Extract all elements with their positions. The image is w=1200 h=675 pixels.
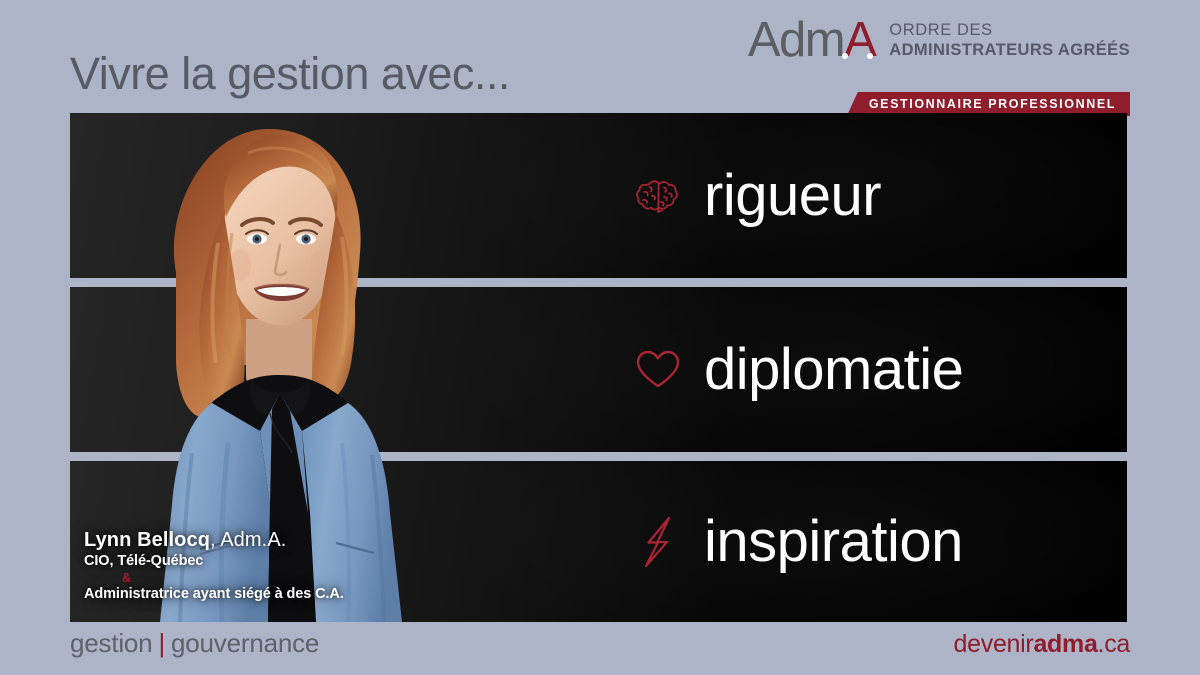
adma-wordmark: AdmA [748,14,875,66]
website-url[interactable]: deveniradma.ca [954,630,1130,659]
value-band-rigueur: rigueur [70,113,1127,278]
band-word-inspiration: inspiration [704,508,963,575]
speaker-extra-role: Administratrice ayant siégé à des C.A. [84,585,344,604]
footer-tagline-second: gouvernance [171,628,319,658]
footer-separator: | [158,628,165,658]
logo-mark-adm: Adm [748,13,844,67]
adma-logo: AdmA ORDRE DES ADMINISTRATEURS AGRÉÉS GE… [750,16,1130,100]
url-tld: .ca [1098,630,1130,658]
lightning-icon [630,514,686,570]
band-row: rigueur [70,113,1127,278]
ampersand-separator: & [122,571,344,585]
heart-icon [630,342,686,398]
speaker-name: Lynn Bellocq [84,529,210,551]
speaker-role: CIO, Télé-Québec [84,552,344,571]
band-row: diplomatie [70,287,1127,452]
url-prefix: devenir [954,630,1034,658]
page-title: Vivre la gestion avec... [70,48,510,100]
value-band-diplomatie: diplomatie [70,287,1127,452]
logo-subtitle-line1: ORDRE DES [889,20,1130,40]
logo-top-row: AdmA ORDRE DES ADMINISTRATEURS AGRÉÉS [750,16,1130,72]
band-word-rigueur: rigueur [704,162,881,229]
band-word-diplomatie: diplomatie [704,336,963,403]
brain-icon [630,168,686,224]
slide-canvas: Vivre la gestion avec... AdmA ORDRE DES … [0,0,1200,675]
speaker-name-line: Lynn Bellocq, Adm.A. [84,528,344,552]
footer-tagline: gestion|gouvernance [70,628,319,659]
logo-subtitle-line2: ADMINISTRATEURS AGRÉÉS [889,40,1130,60]
speaker-nameplate: Lynn Bellocq, Adm.A. CIO, Télé-Québec & … [84,528,344,604]
logo-subtitle: ORDRE DES ADMINISTRATEURS AGRÉÉS [889,16,1130,60]
footer-tagline-first: gestion [70,628,152,658]
url-brand: adma [1033,630,1097,658]
speaker-designation: , Adm.A. [210,529,286,551]
